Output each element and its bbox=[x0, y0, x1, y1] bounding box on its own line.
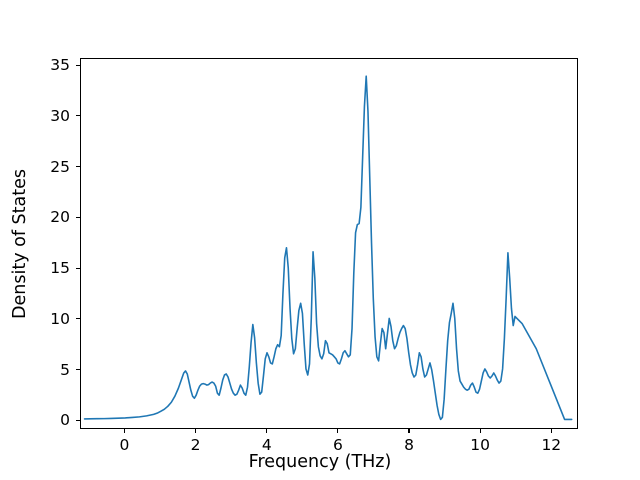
y-tick-label: 0 bbox=[0, 411, 70, 429]
y-axis-label: Density of States bbox=[10, 169, 30, 319]
plot-axes bbox=[80, 58, 578, 429]
y-tick-label: 25 bbox=[0, 158, 70, 176]
x-tick-mark bbox=[266, 429, 267, 433]
x-tick-mark bbox=[195, 429, 196, 433]
figure-canvas: Density of States 05101520253035 0246810… bbox=[0, 0, 640, 480]
x-tick-mark bbox=[408, 429, 409, 433]
y-tick-label: 5 bbox=[0, 361, 70, 379]
x-tick-mark bbox=[551, 429, 552, 433]
x-tick-mark bbox=[124, 429, 125, 433]
y-tick-label: 20 bbox=[0, 208, 70, 226]
dos-line-plot bbox=[81, 59, 577, 428]
y-tick-label: 15 bbox=[0, 259, 70, 277]
y-tick-label: 10 bbox=[0, 310, 70, 328]
dos-curve bbox=[85, 76, 572, 419]
x-tick-mark bbox=[337, 429, 338, 433]
x-tick-mark bbox=[480, 429, 481, 433]
y-tick-label: 30 bbox=[0, 107, 70, 125]
x-axis-label: Frequency (THz) bbox=[0, 452, 640, 472]
y-tick-label: 35 bbox=[0, 56, 70, 74]
